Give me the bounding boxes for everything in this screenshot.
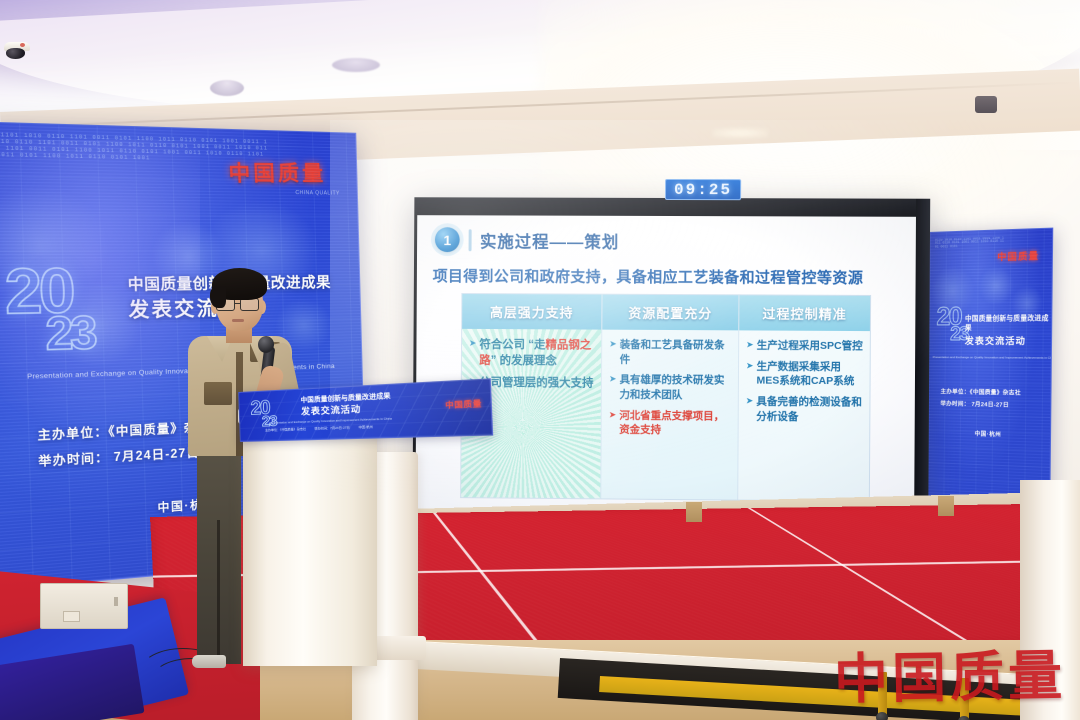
bullet-prefix: 符合公司 “走 — [479, 339, 545, 351]
ceiling-vent-icon — [332, 58, 380, 72]
projection-screen: 09:25 1 实施过程——策划 项目得到公司和政府支持，具备相应工艺装备和过程… — [412, 197, 930, 522]
bullet-text: 具备完善的检测设备和分析设备 — [756, 395, 863, 425]
list-item: ➤ 河北省重点支撑项目，资金支持 — [609, 408, 732, 438]
speaker-hair-side — [210, 286, 226, 308]
bullet-text: 装备和工艺具备研发条件 — [620, 338, 733, 368]
stage-seam — [748, 508, 985, 651]
presentation-slide: 1 实施过程——策划 项目得到公司和政府支持，具备相应工艺装备和过程管控等资源 … — [415, 215, 916, 518]
support-table: 高层强力支持 ➤ 符合公司 “走精品钢之路” 的发展理念 ➤ 公司管理层的强大支… — [460, 293, 871, 502]
event-city-right: 中国·杭州 — [928, 428, 1050, 440]
screen-bezel-right — [914, 199, 930, 523]
camera-lens — [6, 48, 25, 59]
speaker-shoe — [192, 655, 226, 668]
wall-light-glow — [712, 128, 768, 138]
world-map-graphic-right — [927, 243, 1054, 359]
header-divider — [469, 229, 472, 251]
event-organizer-right: 主办单位：《中国质量》杂志社 — [940, 386, 1040, 400]
wall-access-panel[interactable] — [40, 583, 128, 629]
table-body-3: ➤ 生产过程采用SPC管控 ➤ 生产数据采集采用MES系统和CAP系统 ➤ 具备… — [738, 330, 870, 500]
year-bottom: 23 — [45, 315, 95, 353]
stage-support-post — [686, 502, 702, 522]
bullet-text: 河北省重点支撑项目，资金支持 — [619, 408, 732, 438]
arrow-bullet-icon: ➤ — [746, 338, 754, 353]
china-quality-logo-sub: CHINA QUALITY — [295, 190, 339, 197]
table-column-2: 资源配置充分 ➤ 装备和工艺具备研发条件 ➤ 具有雄厚的技术研发实力和技术团队 … — [601, 295, 739, 500]
arrow-bullet-icon: ➤ — [609, 373, 617, 402]
event-meta-right: 主办单位：《中国质量》杂志社 举办时间： 7月24日-27日 — [940, 386, 1040, 413]
speaker-shirt-pocket — [204, 382, 232, 405]
podium-city: 中国·杭州 — [358, 425, 373, 430]
list-item: ➤ 生产数据采集采用MES系统和CAP系统 — [746, 359, 864, 389]
china-quality-logo: 中国质量 — [227, 157, 326, 188]
security-camera-icon — [4, 42, 30, 58]
panel-outlet — [63, 611, 80, 622]
year-bottom-right: 23 — [950, 327, 968, 342]
table-header-3: 过程控制精准 — [739, 295, 870, 331]
china-quality-logo-right: 中国质量 — [997, 249, 1039, 264]
table-column-3: 过程控制精准 ➤ 生产过程采用SPC管控 ➤ 生产数据采集采用MES系统和CAP… — [738, 295, 870, 500]
bullet-text: 公司管理层的强大支持 — [479, 375, 593, 392]
bullet-suffix: ” 的发展理念 — [491, 355, 557, 367]
year-2023-graphic-right: 20 23 — [936, 308, 968, 343]
stage-leg-foot — [958, 716, 970, 720]
bullet-text: 生产过程采用SPC管控 — [757, 338, 863, 353]
speaker-leg-split — [217, 520, 220, 666]
section-number-badge: 1 — [435, 227, 460, 252]
conference-scene: 01101 1010 0110 1101 0011 0101 1100 1011… — [0, 0, 1080, 720]
smoke-detector-icon — [210, 80, 244, 96]
ceiling-speaker-icon — [975, 96, 997, 113]
arrow-bullet-icon: ➤ — [746, 359, 754, 388]
arrow-bullet-icon: ➤ — [746, 395, 754, 424]
slide-title: 实施过程——策划 — [480, 228, 619, 252]
slide-lead-statement: 项目得到公司和政府支持，具备相应工艺装备和过程管控等资源 — [433, 265, 905, 288]
event-date-right: 举办时间： 7月24日-27日 — [940, 398, 1040, 413]
podium — [243, 418, 377, 666]
year-top-right: 20 — [936, 303, 961, 331]
arrow-bullet-icon: ➤ — [609, 338, 617, 367]
event-title-line1-right: 中国质量创新与质量改进成果 — [965, 315, 1049, 332]
led-pixel-grid-right — [928, 229, 1053, 518]
stage-support-post — [938, 496, 954, 516]
list-item: ➤ 符合公司 “走精品钢之路” 的发展理念 — [469, 337, 595, 370]
glasses-bridge — [235, 303, 241, 304]
speaker-mouth — [232, 319, 244, 322]
event-title-cn-right: 中国质量创新与质量改进成果 发表交流活动 — [965, 315, 1049, 347]
camera-status-led — [20, 43, 25, 47]
table-body-2: ➤ 装备和工艺具备研发条件 ➤ 具有雄厚的技术研发实力和技术团队 ➤ 河北省重点… — [601, 330, 738, 500]
slide-header: 1 实施过程——策划 — [435, 227, 620, 253]
countdown-timer: 09:25 — [665, 179, 741, 200]
right-led-screen: 0110 1010 0110 1101 0011 0101 1100 1011 … — [927, 228, 1054, 519]
china-quality-watermark: 中国质量 — [833, 631, 1066, 714]
arrow-bullet-icon: ➤ — [609, 408, 617, 437]
panel-switch — [114, 597, 118, 606]
binary-code-decoration-right: 0110 1010 0110 1101 0011 0101 1100 1011 … — [935, 236, 1005, 269]
list-item: ➤ 生产过程采用SPC管控 — [746, 338, 864, 353]
event-title-line2-right: 发表交流活动 — [965, 335, 1049, 348]
event-title-en-right: Presentation and Exchange on Quality Inn… — [933, 355, 1047, 360]
list-item: ➤ 具有雄厚的技术研发实力和技术团队 — [609, 373, 732, 403]
list-item: ➤ 具备完善的检测设备和分析设备 — [746, 395, 864, 425]
table-header-2: 资源配置充分 — [602, 295, 738, 331]
bullet-text: 生产数据采集采用MES系统和CAP系统 — [756, 359, 863, 389]
podium-china-quality-logo: 中国质量 — [445, 399, 482, 412]
list-item: ➤ 装备和工艺具备研发条件 — [609, 338, 732, 368]
stage-seam — [433, 513, 553, 660]
bullet-text: 具有雄厚的技术研发实力和技术团队 — [619, 373, 732, 403]
arrow-bullet-icon: ➤ — [469, 337, 477, 369]
bullet-text: 符合公司 “走精品钢之路” 的发展理念 — [479, 337, 595, 370]
table-header-1: 高层强力支持 — [462, 294, 601, 330]
year-2023-graphic: 20 23 — [4, 267, 95, 355]
